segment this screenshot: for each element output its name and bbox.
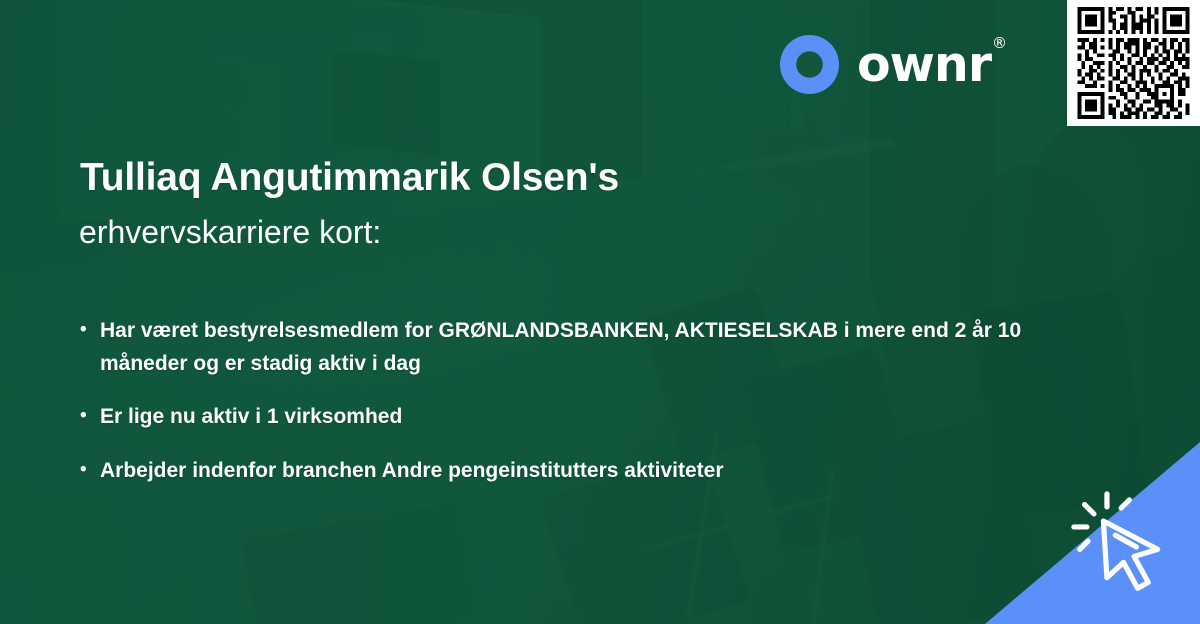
business-card-banner: ownr® <box>0 0 1200 624</box>
list-item-label: Har været bestyrelsesmedlem for GRØNLAND… <box>100 315 1070 380</box>
ownr-wordmark: ownr® <box>857 40 1005 89</box>
list-item: • Er lige nu aktiv i 1 virksomhed <box>80 401 1070 434</box>
ownr-logo[interactable]: ownr® <box>778 33 1005 96</box>
list-item-label: Er lige nu aktiv i 1 virksomhed <box>100 401 1070 434</box>
photo-tint-overlay <box>0 0 1200 624</box>
list-item-label: Arbejder indenfor branchen Andre pengein… <box>100 455 1070 488</box>
list-item: • Har været bestyrelsesmedlem for GRØNLA… <box>80 315 1070 380</box>
bullet-icon: • <box>80 315 100 380</box>
bullet-icon: • <box>80 455 100 488</box>
qr-code-image <box>1074 7 1193 119</box>
ownr-wordmark-text: ownr <box>857 36 991 93</box>
bullet-icon: • <box>80 401 100 434</box>
registered-trademark-icon: ® <box>992 34 1006 52</box>
qr-code[interactable] <box>1067 0 1200 126</box>
ownr-circle-mark-icon <box>778 33 841 96</box>
page-title: Tulliaq Angutimmarik Olsen's <box>80 155 619 201</box>
career-summary-list: • Har været bestyrelsesmedlem for GRØNLA… <box>80 315 1070 508</box>
list-item: • Arbejder indenfor branchen Andre penge… <box>80 455 1070 488</box>
page-subtitle: erhvervskarriere kort: <box>79 212 381 252</box>
